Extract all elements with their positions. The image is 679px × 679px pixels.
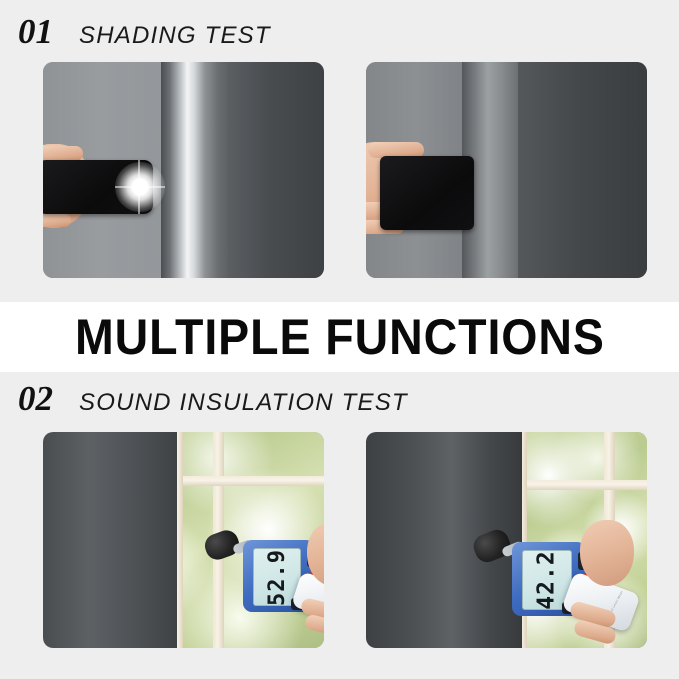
- product-infographic: 01 SHADING TEST MULT: [0, 0, 679, 679]
- photo-sound-curtain-blocked: 42.2 Sound Level Meter: [366, 432, 647, 648]
- window-mullion: [173, 476, 324, 486]
- section-title: SHADING TEST: [79, 22, 271, 50]
- photo-shading-light-on: [43, 62, 324, 278]
- flashlight-ray: [115, 186, 165, 188]
- photo-shading-light-off: [366, 62, 647, 278]
- section-heading-sound: 02 SOUND INSULATION TEST: [18, 379, 408, 419]
- banner-title: MULTIPLE FUNCTIONS: [75, 308, 605, 366]
- banner: MULTIPLE FUNCTIONS: [0, 302, 679, 372]
- finger: [43, 214, 71, 227]
- sound-level-meter: 52.9: [229, 528, 324, 640]
- smartphone: [380, 156, 474, 230]
- meter-reading: 52.9: [265, 549, 290, 606]
- photo-sound-window-open: 52.9: [43, 432, 324, 648]
- section-heading-shading: 01 SHADING TEST: [18, 12, 271, 52]
- hand: [580, 520, 634, 586]
- section-number: 01: [18, 12, 53, 52]
- window-mullion: [516, 480, 647, 490]
- meter-reading: 42.2: [534, 550, 560, 609]
- section-title: SOUND INSULATION TEST: [79, 389, 408, 417]
- section-number: 02: [18, 379, 53, 419]
- curtain-panel: [43, 432, 177, 648]
- sound-level-meter: 42.2 Sound Level Meter: [474, 528, 624, 644]
- finger: [43, 146, 83, 161]
- finger: [304, 613, 324, 637]
